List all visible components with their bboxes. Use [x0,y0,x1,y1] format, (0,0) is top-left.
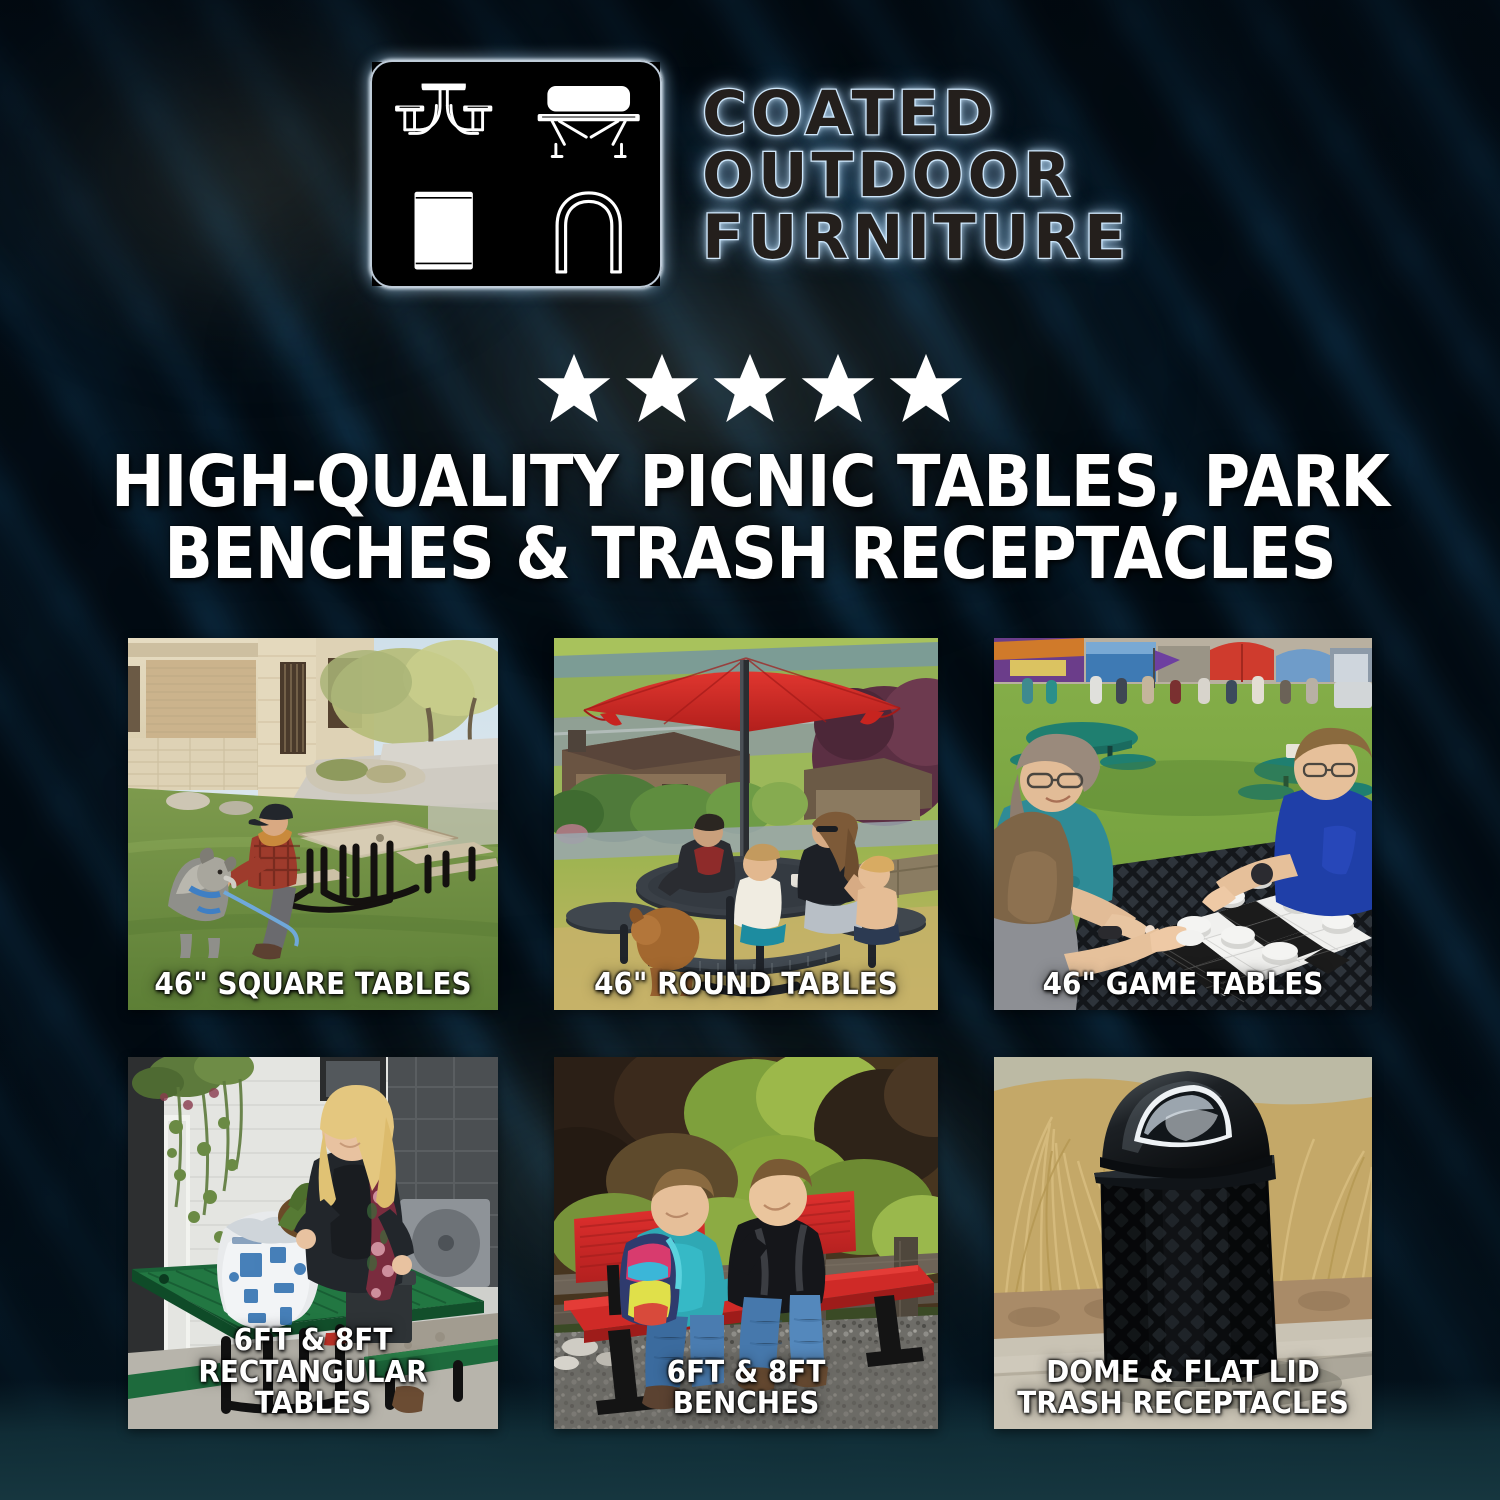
caption-line-1: 6FT & 8FT [234,1323,393,1358]
page-headline: HIGH-QUALITY PICNIC TABLES, PARK BENCHES… [75,446,1425,591]
caption-line-1: 46" ROUND TABLES [594,967,898,1002]
logo-wordmark: COATED OUTDOOR FURNITURE [702,84,1130,267]
caption-line-1: 6FT & 8FT [667,1355,826,1390]
caption-line-2: TRASH RECEPTACLES [1013,1388,1353,1419]
bike-rack-icon [518,176,661,287]
product-tile-caption: 46" ROUND TABLES [567,969,924,1000]
logo-mark-quadrants [370,60,662,288]
product-tile-caption: 6FT & 8FT RECTANGULAR TABLES [141,1325,485,1419]
game-tables-photo [994,638,1372,1010]
brand-logo: COATED OUTDOOR FURNITURE [0,60,1500,288]
caption-line-1: 46" GAME TABLES [1043,967,1324,1002]
headline-line-1: HIGH-QUALITY PICNIC TABLES, PARK [111,440,1389,523]
product-tile-caption: 46" GAME TABLES [1007,969,1359,1000]
round-tables-photo [554,638,938,1010]
product-tile-grid: 46" SQUARE TABLES [128,638,1372,1429]
caption-line-1: DOME & FLAT LID [1046,1355,1320,1390]
product-tile-round-tables[interactable]: 46" ROUND TABLES [554,638,938,1010]
product-tile-caption: 6FT & 8FT BENCHES [567,1357,924,1419]
headline-line-2: BENCHES & TRASH RECEPTACLES [75,518,1425,590]
picnic-table-icon [372,62,515,173]
star-icon [624,352,700,424]
product-tile-caption: 46" SQUARE TABLES [141,969,485,1000]
park-bench-icon [518,62,661,173]
product-tile-trash-receptacles[interactable]: DOME & FLAT LID TRASH RECEPTACLES [994,1057,1372,1429]
product-tile-game-tables[interactable]: 46" GAME TABLES [994,638,1372,1010]
logo-word-outdoor: OUTDOOR [702,146,1130,206]
caption-line-2: RECTANGULAR TABLES [147,1357,480,1419]
star-icon [800,352,876,424]
caption-line-1: 46" SQUARE TABLES [154,967,471,1002]
caption-line-2: BENCHES [573,1388,919,1419]
product-tile-caption: DOME & FLAT LID TRASH RECEPTACLES [1007,1357,1359,1419]
trash-receptacle-icon [372,176,515,287]
rating-stars [0,352,1500,424]
star-icon [888,352,964,424]
square-tables-photo [128,638,498,1010]
star-icon [536,352,612,424]
product-tile-rectangular-tables[interactable]: 6FT & 8FT RECTANGULAR TABLES [128,1057,498,1429]
logo-word-furniture: FURNITURE [702,208,1130,268]
logo-word-coated: COATED [702,84,1130,144]
product-tile-benches[interactable]: 6FT & 8FT BENCHES [554,1057,938,1429]
product-tile-square-tables[interactable]: 46" SQUARE TABLES [128,638,498,1010]
star-icon [712,352,788,424]
